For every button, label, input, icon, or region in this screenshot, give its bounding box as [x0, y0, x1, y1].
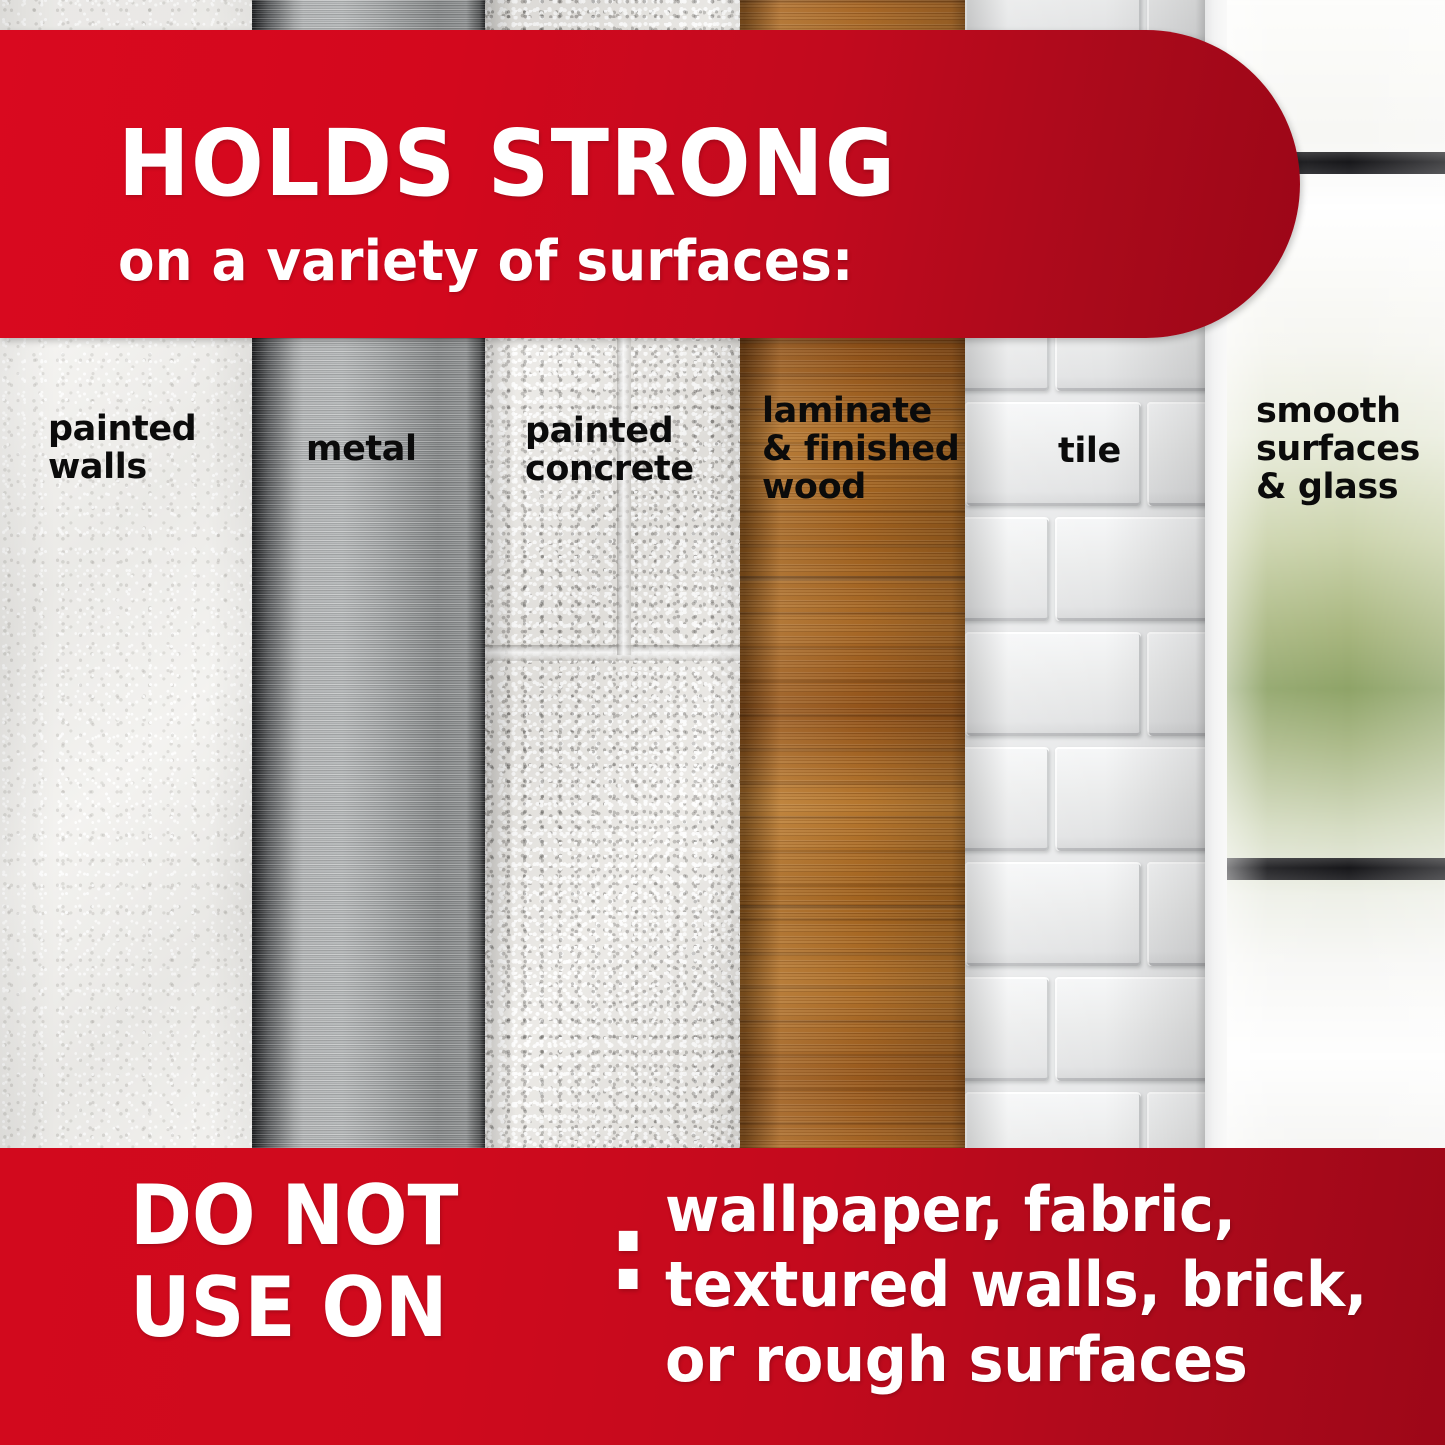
top-red-banner: HOLDS STRONG on a variety of surfaces: [0, 30, 1300, 338]
infographic-canvas: HOLDS STRONG on a variety of surfaces: p… [0, 0, 1445, 1445]
bottom-red-banner: DO NOT USE ON : wallpaper, fabric, textu… [0, 1148, 1445, 1445]
surface-label-painted-concrete: painted concrete [525, 412, 694, 488]
warning-heading-do-not-use-on: DO NOT USE ON [130, 1170, 459, 1354]
surface-label-tile: tile [1058, 432, 1121, 470]
surface-label-painted-walls: painted walls [48, 410, 196, 486]
subheadline-variety-of-surfaces: on a variety of surfaces: [118, 233, 853, 291]
surface-label-metal: metal [306, 430, 417, 468]
surface-label-smooth-surfaces-glass: smooth surfaces & glass [1256, 392, 1420, 506]
warning-colon: : [607, 1200, 649, 1306]
headline-holds-strong: HOLDS STRONG [118, 118, 896, 210]
warning-surface-list: wallpaper, fabric, textured walls, brick… [665, 1172, 1367, 1397]
surface-label-laminate-finished-wood: laminate & finished wood [762, 392, 959, 506]
